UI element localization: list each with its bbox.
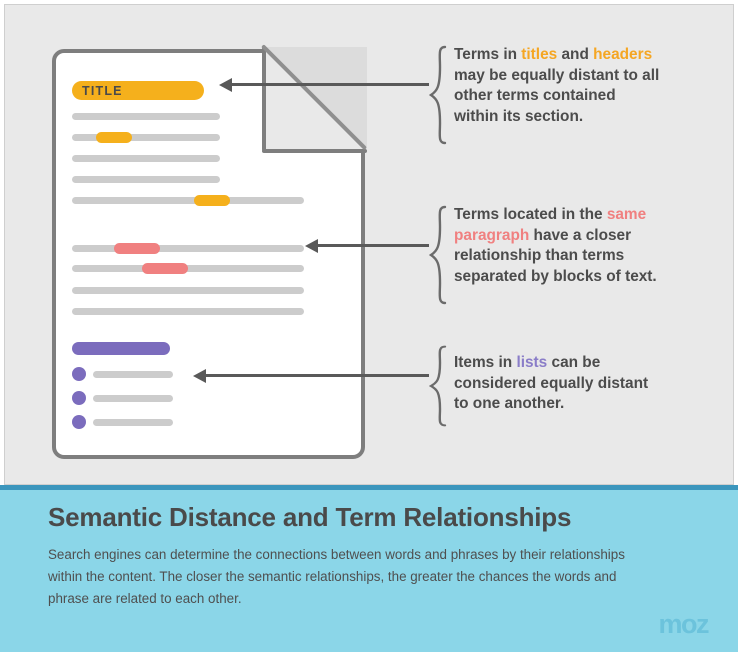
annotation-span: Terms located in the <box>454 206 607 223</box>
highlight-pink <box>114 243 160 254</box>
annotation-text: Items in lists can be considered equally… <box>447 345 648 427</box>
curly-brace-icon <box>429 345 447 427</box>
document-content: TITLE <box>52 49 365 459</box>
text-line <box>72 113 220 120</box>
annotation-line: paragraph have a closer <box>454 226 657 247</box>
highlight-pink <box>142 263 188 274</box>
keyword-titles: titles <box>521 46 557 63</box>
text-line <box>72 287 304 294</box>
text-line <box>72 245 304 252</box>
keyword-headers: headers <box>593 46 652 63</box>
connector-arrow-shaft <box>205 374 429 377</box>
curly-brace-icon <box>429 205 447 305</box>
moz-logo: moz <box>659 609 709 640</box>
list-item-line <box>93 371 173 378</box>
text-line <box>72 134 220 141</box>
text-line <box>72 308 304 315</box>
highlight-orange <box>194 195 230 206</box>
annotation-text: Terms in titles and headers may be equal… <box>447 45 659 145</box>
list-heading-bar <box>72 342 170 355</box>
connector-arrow-head <box>219 78 232 92</box>
annotation-line: Items in lists can be <box>454 353 648 374</box>
annotation-line: relationship than terms <box>454 246 657 267</box>
annotation-line: other terms contained <box>454 86 659 107</box>
annotation-span: have a closer <box>529 227 631 244</box>
highlight-orange <box>96 132 132 143</box>
annotation-titles-headers: Terms in titles and headers may be equal… <box>429 45 659 145</box>
connector-arrow-head <box>305 239 318 253</box>
annotation-line: within its section. <box>454 107 659 128</box>
text-line <box>72 176 220 183</box>
list-bullet <box>72 415 86 429</box>
list-bullet <box>72 367 86 381</box>
annotation-lists: Items in lists can be considered equally… <box>429 345 648 427</box>
annotation-span: can be <box>547 354 600 371</box>
text-line <box>72 265 304 272</box>
connector-arrow-head <box>193 369 206 383</box>
annotation-line: Terms located in the same <box>454 205 657 226</box>
annotation-line: to one another. <box>454 394 648 415</box>
caption-divider-rule <box>0 485 738 490</box>
list-item-line <box>93 419 173 426</box>
annotation-text: Terms located in the same paragraph have… <box>447 205 657 305</box>
curly-brace-icon <box>429 45 447 145</box>
annotation-line: Terms in titles and headers <box>454 45 659 66</box>
document-title-label: TITLE <box>72 84 123 98</box>
list-item-line <box>93 395 173 402</box>
document-title-pill: TITLE <box>72 81 204 100</box>
annotation-same-paragraph: Terms located in the same paragraph have… <box>429 205 657 305</box>
annotation-line: separated by blocks of text. <box>454 267 657 288</box>
keyword-lists: lists <box>516 354 547 371</box>
connector-arrow-shaft <box>231 83 429 86</box>
caption-title: Semantic Distance and Term Relationships <box>48 502 571 533</box>
caption-panel: Semantic Distance and Term Relationships… <box>0 485 738 652</box>
list-bullet <box>72 391 86 405</box>
text-line <box>72 155 220 162</box>
connector-arrow-shaft <box>317 244 429 247</box>
diagram-panel: TITLE <box>4 4 734 485</box>
annotation-span: Terms in <box>454 46 521 63</box>
infographic-canvas: TITLE <box>0 0 738 652</box>
annotation-span: Items in <box>454 354 516 371</box>
annotation-line: considered equally distant <box>454 374 648 395</box>
keyword-paragraph: paragraph <box>454 227 529 244</box>
caption-body: Search engines can determine the connect… <box>48 544 648 610</box>
annotation-span: and <box>557 46 593 63</box>
text-line <box>72 197 304 204</box>
keyword-same: same <box>607 206 646 223</box>
document-illustration: TITLE <box>52 49 365 459</box>
annotation-line: may be equally distant to all <box>454 66 659 87</box>
